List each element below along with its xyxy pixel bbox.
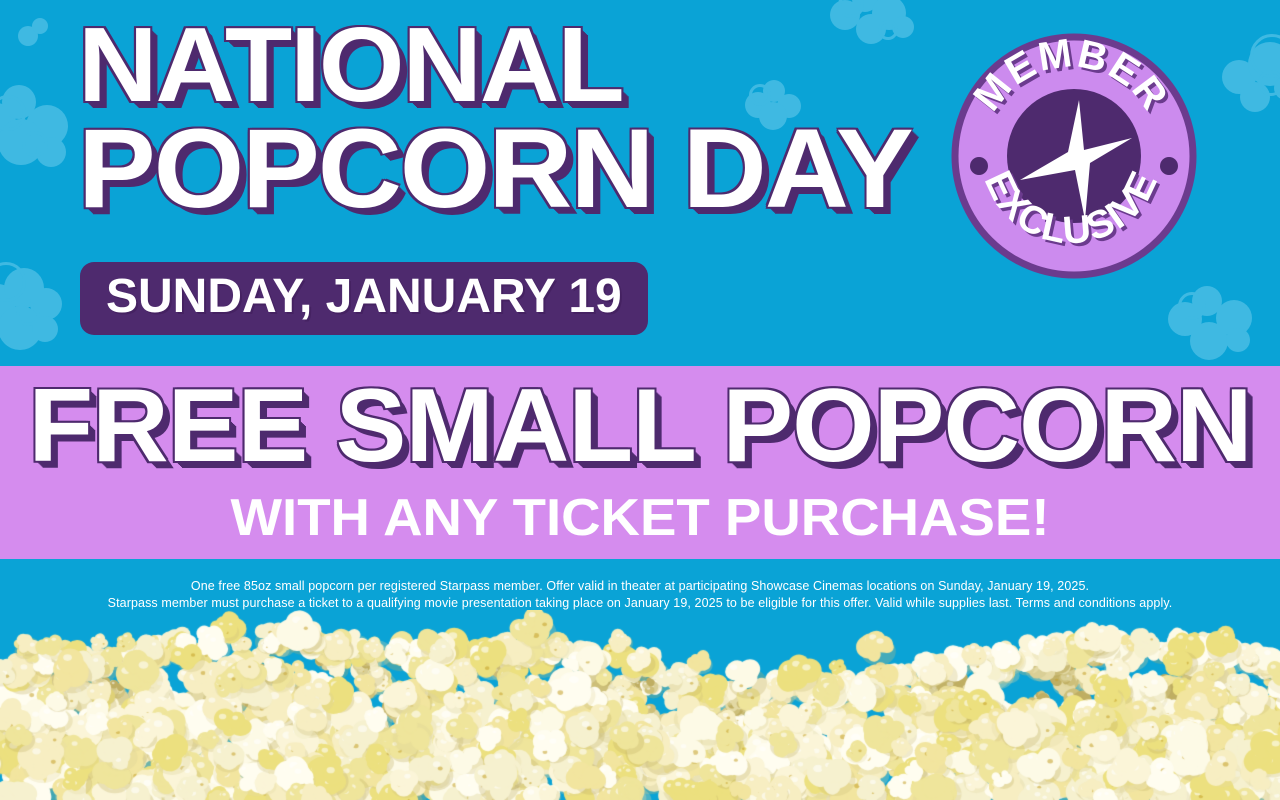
seal-dot-right: [1160, 157, 1178, 175]
headline-line-1: NATIONAL: [78, 18, 1014, 113]
popcorn-pile-image: [0, 610, 1280, 800]
page-title: NATIONAL POPCORN DAY: [78, 18, 978, 220]
date-badge: SUNDAY, JANUARY 19: [80, 262, 648, 335]
member-exclusive-seal: MEMBER MEMBER EXCLUSIVE EXCLUSIVE: [948, 30, 1200, 282]
popcorn-canvas: [0, 610, 1280, 800]
fineprint-line-1: One free 85oz small popcorn per register…: [0, 578, 1280, 595]
date-badge-label: SUNDAY, JANUARY 19: [106, 273, 622, 321]
fineprint: One free 85oz small popcorn per register…: [0, 578, 1280, 612]
offer-subheadline: WITH ANY TICKET PURCHASE!: [0, 492, 1280, 544]
header-section: NATIONAL POPCORN DAY SUNDAY, JANUARY 19: [0, 0, 1280, 366]
promo-banner: NATIONAL POPCORN DAY SUNDAY, JANUARY 19: [0, 0, 1280, 800]
offer-band: FREE SMALL POPCORN WITH ANY TICKET PURCH…: [0, 366, 1280, 559]
headline-line-2: POPCORN DAY: [78, 119, 1014, 220]
seal-dot-left: [970, 157, 988, 175]
offer-headline: FREE SMALL POPCORN: [0, 374, 1280, 478]
